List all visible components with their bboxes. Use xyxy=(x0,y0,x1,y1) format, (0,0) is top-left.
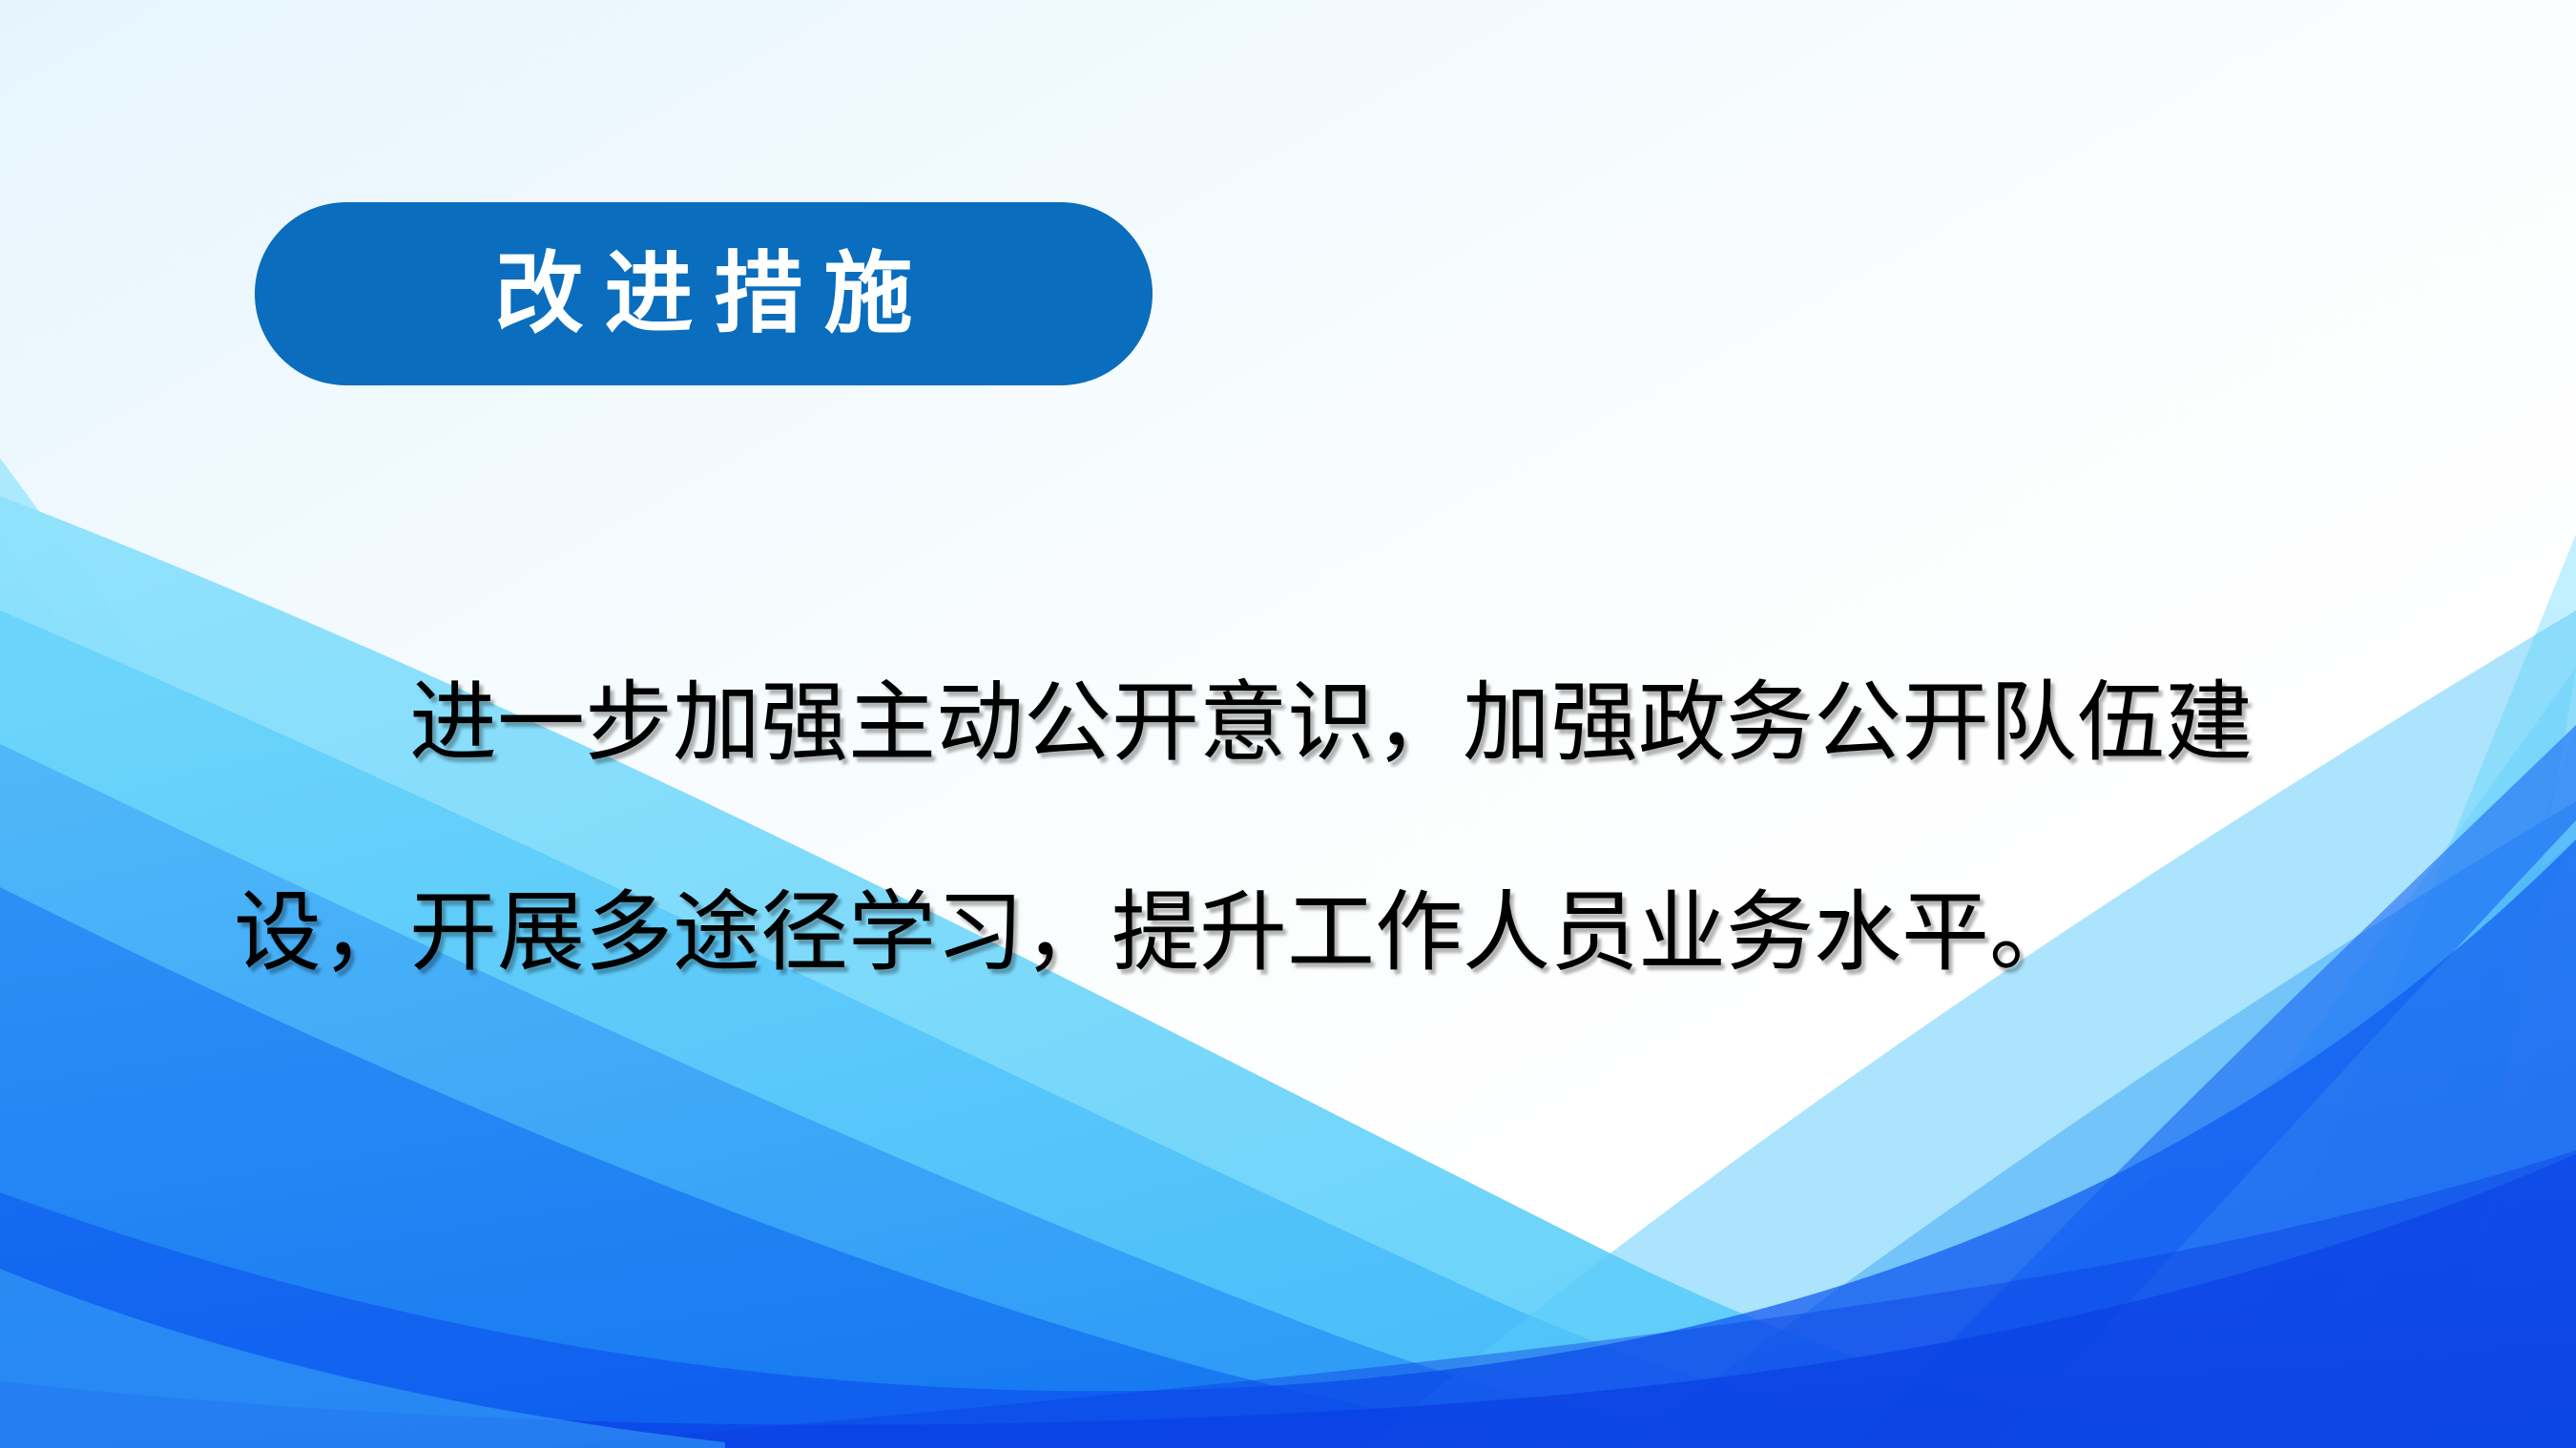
slide-canvas: 改进措施 进一步加强主动公开意识，加强政务公开队伍建设，开展多途径学习，提升工作… xyxy=(0,0,2576,1448)
section-title-label: 改进措施 xyxy=(474,250,934,339)
body-paragraph: 进一步加强主动公开意识，加强政务公开队伍建设，开展多途径学习，提升工作人员业务水… xyxy=(234,618,2419,1038)
section-title-badge: 改进措施 xyxy=(255,202,1153,385)
